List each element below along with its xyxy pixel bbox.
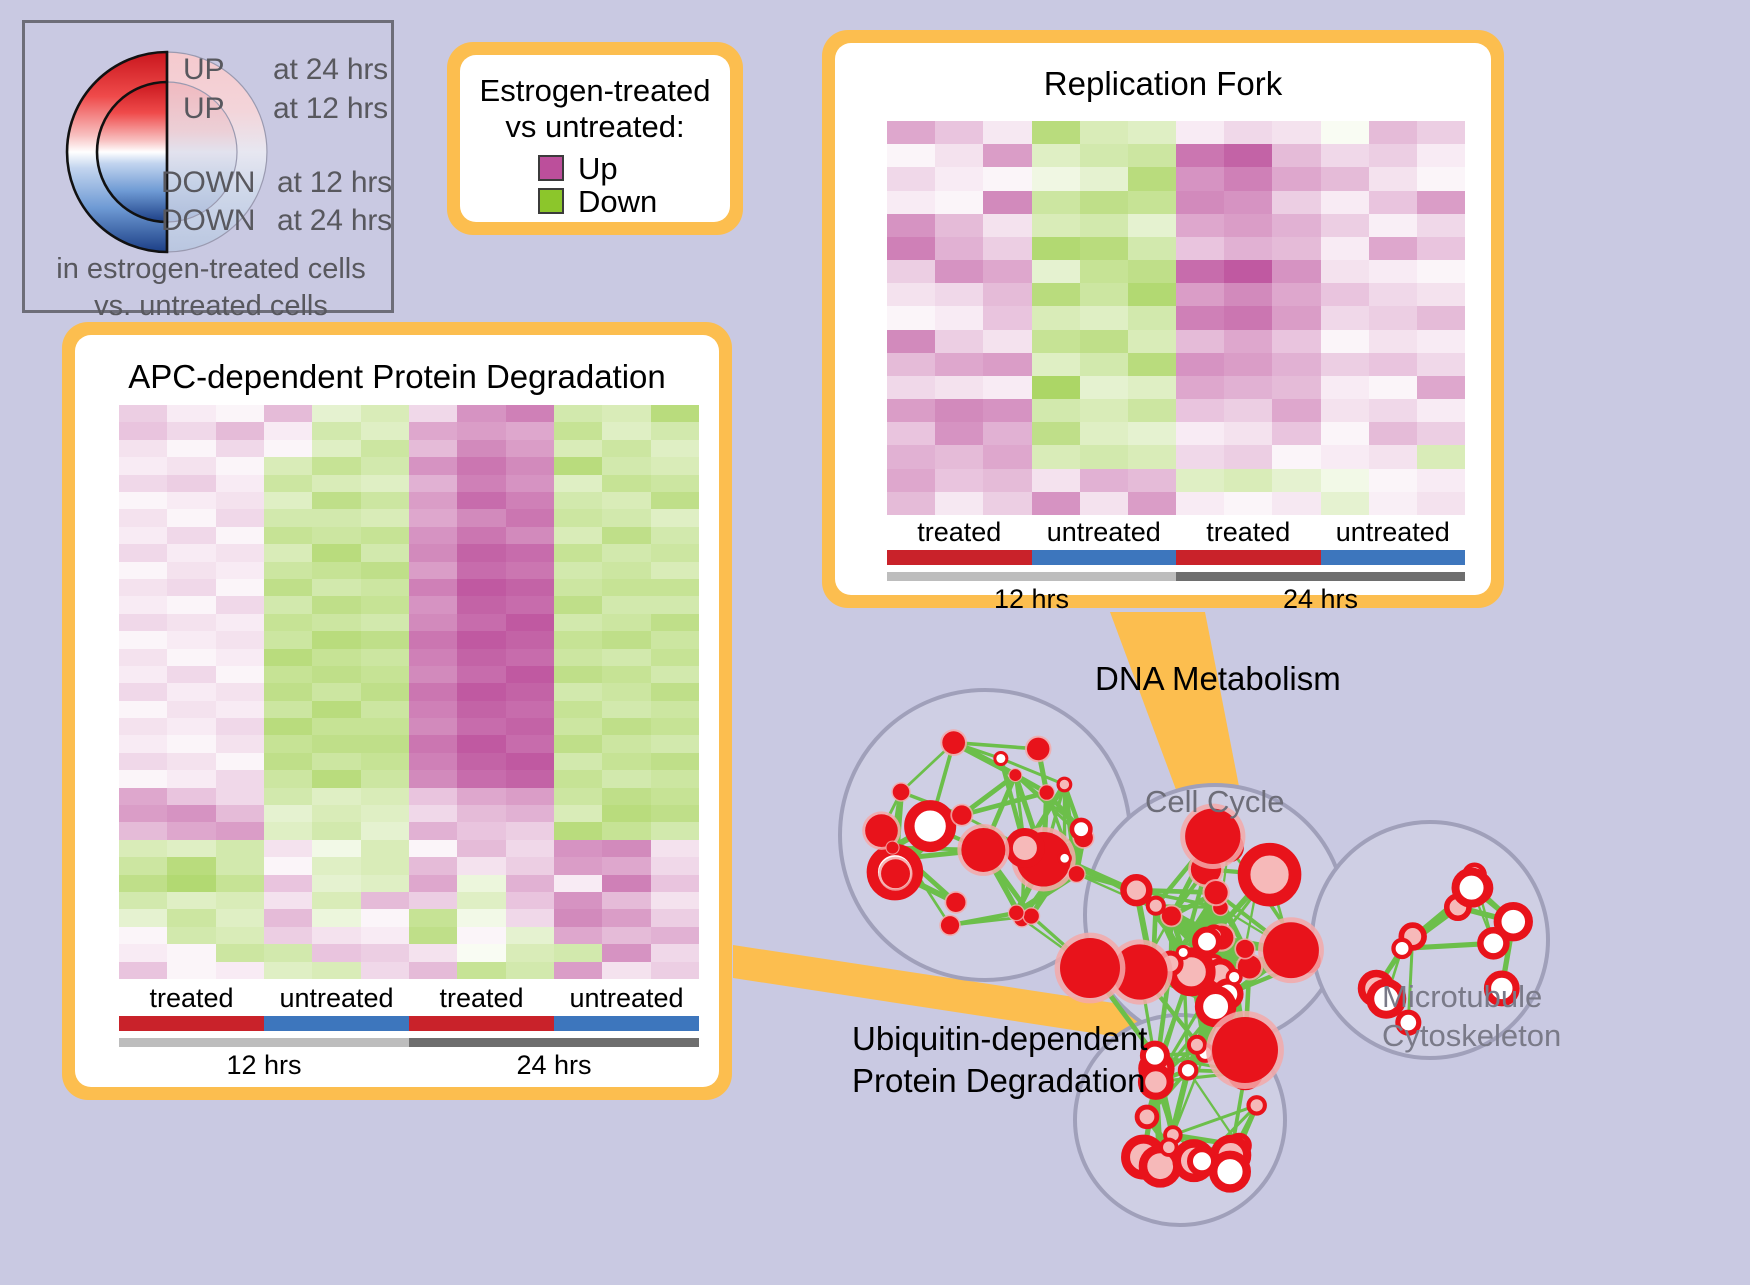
heatmap-cell — [167, 909, 215, 926]
heatmap-cell — [216, 909, 264, 926]
heatmap-cell — [312, 440, 360, 457]
heatmap-cell — [651, 770, 699, 787]
heatmap-cell — [554, 579, 602, 596]
heatmap-cell — [119, 649, 167, 666]
heatmap-cell — [216, 649, 264, 666]
heatmap-cell — [1369, 191, 1417, 214]
heatmap-cell — [935, 260, 983, 283]
heatmap-cell — [651, 422, 699, 439]
heatmap-cell — [1128, 492, 1176, 515]
heatmap-cell — [409, 805, 457, 822]
heatmap-cell — [457, 857, 505, 874]
heatmap-cell — [1032, 469, 1080, 492]
network-label-microtubule-line-1: Microtubule — [1382, 978, 1561, 1017]
heatmap-cell — [312, 475, 360, 492]
heatmap-cell — [167, 562, 215, 579]
heatmap-cell — [1369, 376, 1417, 399]
heatmap-cell — [554, 405, 602, 422]
heatmap-cell — [119, 753, 167, 770]
heatmap-cell — [983, 121, 1031, 144]
network-node — [1060, 938, 1120, 998]
heatmap-cell — [1369, 214, 1417, 237]
heatmap-cell — [1369, 121, 1417, 144]
heatmap-cell — [119, 944, 167, 961]
heatmap-cell — [1080, 214, 1128, 237]
heatmap-cell — [1176, 330, 1224, 353]
heatmap-cell — [361, 875, 409, 892]
rf-time-label-12: 12 hrs — [887, 584, 1176, 615]
heatmap-cell — [409, 770, 457, 787]
heatmap-cell — [1272, 353, 1320, 376]
legend-label-up: Up — [578, 153, 618, 184]
heatmap-cell — [983, 237, 1031, 260]
heatmap-cell — [1128, 237, 1176, 260]
heatmap-cell — [1128, 469, 1176, 492]
heatmap-cell — [312, 527, 360, 544]
heatmap-cell — [1272, 492, 1320, 515]
heatmap-cell — [264, 422, 312, 439]
heatmap-cell — [312, 909, 360, 926]
heatmap-cell — [1224, 422, 1272, 445]
heatmap-cell — [887, 376, 935, 399]
heatmap-cell — [1369, 260, 1417, 283]
heatmap-cell — [1176, 422, 1224, 445]
apc-group-color-bar — [119, 1016, 699, 1031]
heatmap-cell — [554, 753, 602, 770]
network-node — [1393, 940, 1410, 957]
heatmap-cell — [554, 805, 602, 822]
heatmap-cell — [1417, 376, 1465, 399]
heatmap-cell — [264, 701, 312, 718]
heatmap-cell — [1369, 237, 1417, 260]
heatmap-cell — [1369, 353, 1417, 376]
heatmap-cell — [1176, 306, 1224, 329]
apc-group-labels: treated untreated treated untreated — [119, 983, 699, 1014]
heatmap-cell — [457, 718, 505, 735]
heatmap-cell — [554, 422, 602, 439]
heatmap-cell — [887, 144, 935, 167]
heatmap-cell — [457, 614, 505, 631]
key-label-down-12: DOWN — [161, 166, 255, 200]
heatmap-cell — [887, 191, 935, 214]
heatmap-cell — [1417, 214, 1465, 237]
heatmap-cell — [1321, 260, 1369, 283]
heatmap-cell — [554, 631, 602, 648]
heatmap-cell — [602, 805, 650, 822]
heatmap-cell — [651, 927, 699, 944]
network-label-microtubule-line-2: Cytoskeleton — [1382, 1017, 1561, 1056]
rf-group-label-2: treated — [1176, 517, 1321, 548]
heatmap-cell — [216, 631, 264, 648]
heatmap-cell — [216, 527, 264, 544]
heatmap-cell — [506, 840, 554, 857]
heatmap-cell — [1224, 399, 1272, 422]
heatmap-cell — [312, 753, 360, 770]
heatmap-cell — [651, 475, 699, 492]
heatmap-cell — [312, 892, 360, 909]
heatmap-cell — [554, 492, 602, 509]
heatmap-cell — [935, 399, 983, 422]
heatmap-cell — [935, 353, 983, 376]
network-node — [1263, 922, 1319, 978]
heatmap-cell — [1321, 376, 1369, 399]
key-time-up-12: at 12 hrs — [273, 92, 388, 126]
heatmap-cell — [457, 666, 505, 683]
heatmap-cell — [935, 144, 983, 167]
legend-swatch-down-icon — [538, 188, 564, 214]
heatmap-cell — [1369, 144, 1417, 167]
heatmap-cell — [506, 562, 554, 579]
updown-legend-inner: Estrogen-treated vs untreated: Up Down — [460, 55, 730, 222]
heatmap-cell — [1080, 492, 1128, 515]
rf-bar-time-24 — [1176, 572, 1465, 581]
heatmap-cell — [1417, 399, 1465, 422]
heatmap-cell — [1321, 191, 1369, 214]
heatmap-cell — [935, 214, 983, 237]
heatmap-cell — [167, 822, 215, 839]
heatmap-cell — [119, 544, 167, 561]
heatmap-cell — [457, 701, 505, 718]
heatmap-cell — [119, 840, 167, 857]
heatmap-cell — [602, 614, 650, 631]
heatmap-cell — [264, 875, 312, 892]
heatmap-cell — [887, 330, 935, 353]
heatmap-cell — [1224, 376, 1272, 399]
heatmap-cell — [264, 718, 312, 735]
heatmap-cell — [1032, 492, 1080, 515]
heatmap-cell — [409, 492, 457, 509]
heatmap-cell — [1272, 306, 1320, 329]
heatmap-cell — [1032, 306, 1080, 329]
heatmap-cell — [1321, 306, 1369, 329]
heatmap-cell — [361, 944, 409, 961]
apc-time-label-12: 12 hrs — [119, 1050, 409, 1081]
heatmap-cell — [554, 840, 602, 857]
heatmap-cell — [119, 527, 167, 544]
network-node — [1123, 877, 1149, 903]
heatmap-cell — [361, 562, 409, 579]
apc-degradation-axis: treated untreated treated untreated 12 h — [119, 983, 699, 1081]
legend-title-line-2: vs untreated: — [460, 109, 730, 145]
heatmap-cell — [1321, 144, 1369, 167]
network-node — [952, 805, 971, 824]
heatmap-cell — [457, 596, 505, 613]
heatmap-cell — [651, 405, 699, 422]
heatmap-cell — [457, 805, 505, 822]
heatmap-cell — [216, 735, 264, 752]
heatmap-cell — [602, 770, 650, 787]
heatmap-cell — [409, 475, 457, 492]
heatmap-cell — [119, 440, 167, 457]
heatmap-cell — [1369, 422, 1417, 445]
heatmap-cell — [1369, 445, 1417, 468]
heatmap-cell — [167, 457, 215, 474]
heatmap-cell — [167, 770, 215, 787]
heatmap-cell — [457, 544, 505, 561]
heatmap-cell — [887, 399, 935, 422]
heatmap-cell — [983, 144, 1031, 167]
heatmap-cell — [1321, 492, 1369, 515]
heatmap-cell — [264, 822, 312, 839]
heatmap-cell — [651, 492, 699, 509]
heatmap-cell — [887, 121, 935, 144]
heatmap-cell — [361, 631, 409, 648]
replication-fork-card: Replication Fork treated untreated treat… — [822, 30, 1504, 608]
network-node — [1009, 832, 1041, 864]
heatmap-cell — [651, 753, 699, 770]
heatmap-cell — [935, 283, 983, 306]
heatmap-cell — [1128, 399, 1176, 422]
heatmap-cell — [167, 649, 215, 666]
heatmap-cell — [1224, 353, 1272, 376]
heatmap-cell — [1032, 283, 1080, 306]
heatmap-cell — [409, 875, 457, 892]
heatmap-cell — [506, 701, 554, 718]
rf-time-color-bar — [887, 572, 1465, 581]
heatmap-cell — [1032, 353, 1080, 376]
heatmap-cell — [983, 353, 1031, 376]
heatmap-cell — [361, 683, 409, 700]
apc-group-label-0: treated — [119, 983, 264, 1014]
heatmap-cell — [1176, 283, 1224, 306]
network-node — [1190, 1149, 1214, 1173]
heatmap-cell — [1224, 191, 1272, 214]
heatmap-cell — [409, 649, 457, 666]
heatmap-cell — [216, 596, 264, 613]
heatmap-cell — [264, 614, 312, 631]
heatmap-cell — [935, 237, 983, 260]
heatmap-cell — [409, 562, 457, 579]
replication-fork-axis: treated untreated treated untreated 12 h — [887, 517, 1465, 615]
heatmap-cell — [264, 596, 312, 613]
heatmap-cell — [554, 944, 602, 961]
heatmap-cell — [1128, 353, 1176, 376]
heatmap-cell — [506, 735, 554, 752]
heatmap-cell — [361, 805, 409, 822]
network-node — [1161, 1140, 1176, 1155]
network-node — [1227, 970, 1241, 984]
network-node — [941, 916, 959, 934]
legend-item-up: Up — [538, 153, 730, 184]
heatmap-cell — [216, 492, 264, 509]
heatmap-cell — [983, 167, 1031, 190]
heatmap-cell — [1224, 121, 1272, 144]
network-node — [1069, 866, 1085, 882]
heatmap-cell — [983, 492, 1031, 515]
heatmap-cell — [1128, 144, 1176, 167]
heatmap-cell — [1128, 191, 1176, 214]
heatmap-cell — [1080, 399, 1128, 422]
heatmap-cell — [1321, 167, 1369, 190]
heatmap-cell — [216, 666, 264, 683]
heatmap-cell — [361, 649, 409, 666]
heatmap-cell — [264, 735, 312, 752]
heatmap-cell — [216, 718, 264, 735]
heatmap-cell — [167, 544, 215, 561]
heatmap-cell — [361, 544, 409, 561]
legend-swatch-up-icon — [538, 155, 564, 181]
heatmap-cell — [216, 822, 264, 839]
heatmap-cell — [1176, 469, 1224, 492]
heatmap-cell — [1176, 144, 1224, 167]
heatmap-cell — [312, 596, 360, 613]
heatmap-cell — [506, 596, 554, 613]
heatmap-cell — [554, 909, 602, 926]
heatmap-cell — [167, 614, 215, 631]
heatmap-cell — [554, 440, 602, 457]
color-key-box: UP at 24 hrs UP at 12 hrs DOWN at 12 hrs… — [22, 20, 394, 313]
heatmap-cell — [312, 822, 360, 839]
heatmap-cell — [1272, 445, 1320, 468]
heatmap-cell — [554, 735, 602, 752]
heatmap-cell — [216, 544, 264, 561]
heatmap-cell — [651, 596, 699, 613]
network-node — [1212, 1017, 1278, 1083]
heatmap-cell — [119, 927, 167, 944]
heatmap-cell — [119, 909, 167, 926]
heatmap-cell — [1032, 330, 1080, 353]
apc-degradation-card: APC-dependent Protein Degradation treate… — [62, 322, 732, 1100]
rf-bar-time-12 — [887, 572, 1176, 581]
heatmap-cell — [409, 944, 457, 961]
heatmap-cell — [1032, 191, 1080, 214]
heatmap-cell — [312, 701, 360, 718]
heatmap-cell — [167, 927, 215, 944]
heatmap-cell — [457, 579, 505, 596]
heatmap-cell — [216, 962, 264, 979]
heatmap-cell — [1224, 167, 1272, 190]
heatmap-cell — [409, 579, 457, 596]
heatmap-cell — [602, 475, 650, 492]
heatmap-cell — [1272, 422, 1320, 445]
heatmap-cell — [651, 875, 699, 892]
heatmap-cell — [119, 892, 167, 909]
heatmap-cell — [1128, 422, 1176, 445]
heatmap-cell — [983, 214, 1031, 237]
heatmap-cell — [216, 509, 264, 526]
heatmap-cell — [602, 527, 650, 544]
rf-group-label-1: untreated — [1032, 517, 1177, 548]
heatmap-cell — [216, 805, 264, 822]
heatmap-cell — [264, 909, 312, 926]
heatmap-cell — [361, 788, 409, 805]
heatmap-cell — [983, 445, 1031, 468]
heatmap-cell — [457, 440, 505, 457]
heatmap-cell — [1080, 237, 1128, 260]
heatmap-cell — [216, 440, 264, 457]
heatmap-cell — [409, 631, 457, 648]
heatmap-cell — [554, 822, 602, 839]
heatmap-cell — [457, 631, 505, 648]
heatmap-cell — [1176, 260, 1224, 283]
heatmap-cell — [119, 405, 167, 422]
color-key-footer: in estrogen-treated cells vs. untreated … — [25, 251, 397, 324]
heatmap-cell — [651, 718, 699, 735]
apc-bar-treated-24 — [409, 1016, 554, 1031]
network-node — [1058, 778, 1071, 791]
heatmap-cell — [1272, 283, 1320, 306]
key-footer-line-2: vs. untreated cells — [25, 288, 397, 325]
network-node — [1072, 820, 1090, 838]
network-node — [1195, 930, 1219, 954]
heatmap-cell — [602, 544, 650, 561]
network-node — [1480, 930, 1506, 956]
heatmap-cell — [651, 788, 699, 805]
heatmap-cell — [119, 788, 167, 805]
heatmap-cell — [167, 631, 215, 648]
heatmap-cell — [216, 614, 264, 631]
heatmap-cell — [312, 579, 360, 596]
heatmap-cell — [264, 440, 312, 457]
heatmap-cell — [1080, 283, 1128, 306]
heatmap-cell — [554, 892, 602, 909]
heatmap-cell — [216, 457, 264, 474]
heatmap-cell — [1417, 492, 1465, 515]
heatmap-cell — [409, 405, 457, 422]
heatmap-cell — [264, 840, 312, 857]
heatmap-cell — [312, 562, 360, 579]
heatmap-cell — [119, 596, 167, 613]
heatmap-cell — [457, 770, 505, 787]
heatmap-cell — [1369, 283, 1417, 306]
heatmap-cell — [983, 376, 1031, 399]
heatmap-cell — [1080, 422, 1128, 445]
network-node — [893, 784, 910, 801]
heatmap-cell — [1128, 214, 1176, 237]
heatmap-cell — [167, 701, 215, 718]
heatmap-cell — [457, 649, 505, 666]
apc-bar-treated-12 — [119, 1016, 264, 1031]
heatmap-cell — [1224, 283, 1272, 306]
heatmap-cell — [361, 422, 409, 439]
heatmap-cell — [264, 562, 312, 579]
heatmap-cell — [1321, 399, 1369, 422]
heatmap-cell — [887, 237, 935, 260]
heatmap-cell — [506, 875, 554, 892]
heatmap-cell — [1321, 237, 1369, 260]
heatmap-cell — [1032, 214, 1080, 237]
heatmap-cell — [264, 579, 312, 596]
heatmap-cell — [651, 909, 699, 926]
heatmap-cell — [1176, 167, 1224, 190]
heatmap-cell — [1224, 260, 1272, 283]
network-node — [1177, 946, 1189, 958]
heatmap-cell — [554, 457, 602, 474]
heatmap-cell — [119, 701, 167, 718]
network-node — [1027, 738, 1050, 761]
heatmap-cell — [1128, 121, 1176, 144]
heatmap-cell — [119, 422, 167, 439]
heatmap-cell — [1272, 469, 1320, 492]
heatmap-cell — [167, 405, 215, 422]
heatmap-cell — [602, 701, 650, 718]
heatmap-cell — [1321, 445, 1369, 468]
heatmap-cell — [409, 788, 457, 805]
heatmap-cell — [651, 701, 699, 718]
heatmap-cell — [602, 962, 650, 979]
heatmap-cell — [935, 167, 983, 190]
heatmap-cell — [1080, 121, 1128, 144]
heatmap-cell — [457, 492, 505, 509]
heatmap-cell — [1321, 121, 1369, 144]
heatmap-cell — [167, 857, 215, 874]
heatmap-cell — [1417, 306, 1465, 329]
network-node — [881, 859, 910, 888]
heatmap-cell — [554, 509, 602, 526]
heatmap-cell — [312, 492, 360, 509]
heatmap-cell — [264, 666, 312, 683]
rf-group-label-3: untreated — [1321, 517, 1466, 548]
